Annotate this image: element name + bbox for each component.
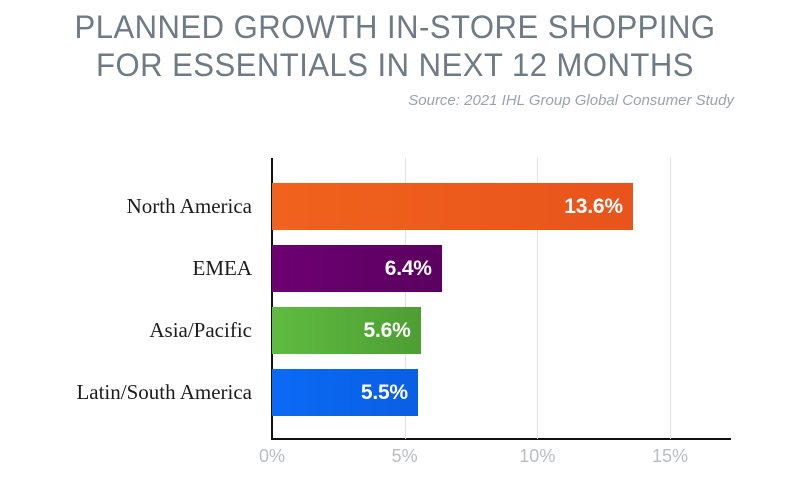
category-label-emea: EMEA [193, 245, 253, 292]
source-note: Source: 2021 IHL Group Global Consumer S… [408, 92, 734, 109]
bar-asia-pacific[interactable]: 5.6% [272, 307, 421, 354]
bar-value-label: 6.4% [385, 257, 442, 281]
category-label-asia-pacific: Asia/Pacific [149, 307, 252, 354]
x-tick-label: 0% [259, 446, 285, 467]
bar-row[interactable]: 5.6% [272, 307, 731, 354]
bar-row[interactable]: 13.6% [272, 183, 731, 230]
plot-area: 13.6%6.4%5.6%5.5% [272, 158, 731, 439]
x-tick-label: 5% [392, 446, 418, 467]
bar-row[interactable]: 5.5% [272, 369, 731, 416]
bar-row[interactable]: 6.4% [272, 245, 731, 292]
x-tick-label: 10% [519, 446, 555, 467]
bar-north-america[interactable]: 13.6% [272, 183, 633, 230]
x-tick-label: 15% [652, 446, 688, 467]
category-label-north-america: North America [127, 183, 252, 230]
category-axis-labels: North AmericaEMEAAsia/PacificLatin/South… [0, 158, 262, 439]
chart-title: PLANNED GROWTH IN-STORE SHOPPING FOR ESS… [0, 8, 790, 84]
category-label-latin-south-america: Latin/South America [76, 369, 252, 416]
bar-value-label: 5.5% [361, 381, 418, 405]
title-line-1: PLANNED GROWTH IN-STORE SHOPPING [12, 8, 778, 46]
title-line-2: FOR ESSENTIALS IN NEXT 12 MONTHS [12, 46, 778, 84]
bar-value-label: 5.6% [363, 319, 420, 343]
bar-emea[interactable]: 6.4% [272, 245, 442, 292]
x-axis-line [271, 438, 731, 440]
chart-screenshot: PLANNED GROWTH IN-STORE SHOPPING FOR ESS… [0, 0, 790, 482]
bar-value-label: 13.6% [564, 195, 633, 219]
bar-latin-south-america[interactable]: 5.5% [272, 369, 418, 416]
